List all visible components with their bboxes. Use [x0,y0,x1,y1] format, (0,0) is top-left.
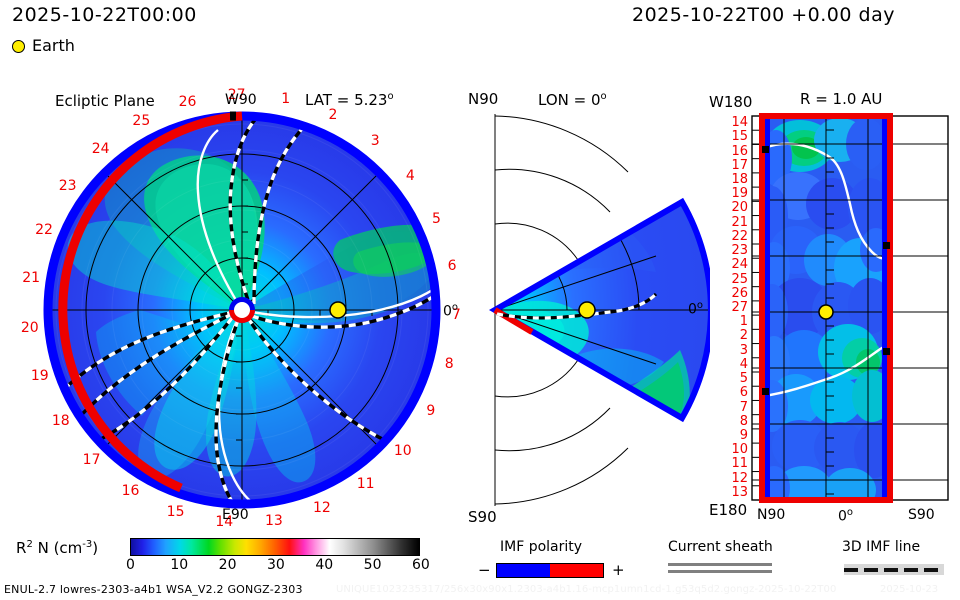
map-row-number: 15 [714,130,748,143]
meridional-plane-panel [460,100,710,520]
map-row-number: 3 [714,344,748,357]
map-row-number: 1 [714,315,748,328]
imf-positive-swatch [550,564,603,577]
map-row-number: 2 [714,329,748,342]
map-xlabel-n90: N90 [757,508,785,522]
colorbar-tick: 40 [315,558,333,572]
colorbar-tick: 50 [364,558,382,572]
map-row-number: 9 [714,429,748,442]
map-row-number: 26 [714,287,748,300]
meridional-right-sup: o [697,300,703,311]
colorbar-tick: 60 [412,558,430,572]
imf-line-dash [864,568,878,572]
imf-polarity-minus: − [478,563,491,578]
map-row-number: 22 [714,230,748,243]
imf-line-dash [884,568,898,572]
earth-marker-meridional [579,302,595,318]
map-xlabel-n90-text: N90 [757,507,785,523]
colorbar-tick: 30 [267,558,285,572]
footer-run-id: UNIQUE1023235317/256x30x90x1.2303-a4b1.1… [336,585,836,595]
map-row-number: 13 [714,486,748,499]
map-row-number: 19 [714,187,748,200]
map-row-number: 11 [714,457,748,470]
map-row-number: 7 [714,401,748,414]
current-sheath-line-1 [668,563,772,566]
map-row-number: 20 [714,201,748,214]
map-xlabel-zero-sup: o [847,507,853,518]
earth-marker-map [819,305,833,319]
imf-line-dash [904,568,918,572]
map-row-number: 24 [714,258,748,271]
imf-line-dash [924,568,938,572]
map-row-number: 12 [714,472,748,485]
map-xlabel-s90-text: S90 [908,507,935,523]
footer-generated-date: 2025-10-23 [880,585,938,595]
map-row-number: 27 [714,301,748,314]
map-row-number: 18 [714,173,748,186]
map-xlabel-zero: 0o [838,508,853,524]
map-row-number: 17 [714,159,748,172]
map-row-number: 21 [714,216,748,229]
map-1au-row-labels: 1415161718192021222324252627123456789101… [700,100,760,520]
current-sheath-line-2 [668,570,772,573]
map-row-number: 10 [714,443,748,456]
map-row-number: 8 [714,415,748,428]
header-epoch: 2025-10-22T00 +0.00 day [632,6,895,25]
imf-polarity-plus: + [612,563,625,578]
imf-line-legend-title: 3D IMF line [842,540,920,554]
current-sheath-legend-title: Current sheath [668,540,773,554]
imf-polarity-legend-title: IMF polarity [500,540,582,554]
imf-line-swatch [844,564,944,575]
current-sheath-swatch [668,563,772,576]
imf-polarity-swatch [496,563,604,578]
meridional-right-label: 0o [688,301,703,317]
map-xlabel-zero-text: 0 [838,509,847,525]
map-row-number: 14 [714,116,748,129]
map-row-number: 5 [714,372,748,385]
meridional-right-zero: 0 [688,302,697,318]
map-xlabel-s90: S90 [908,508,935,522]
colorbar-tick: 0 [126,558,135,572]
imf-line-dash [844,568,858,572]
colorbar-ticks: 0102030405060 [0,0,460,600]
colorbar-tick: 10 [170,558,188,572]
map-row-number: 25 [714,273,748,286]
imf-negative-swatch [497,564,550,577]
map-row-number: 4 [714,358,748,371]
footer-model-string: ENUL-2.7 lowres-2303-a4b1 WSA_V2.2 GONGZ… [4,584,303,595]
map-row-number: 23 [714,244,748,257]
map-row-number: 6 [714,386,748,399]
map-row-number: 16 [714,145,748,158]
colorbar-tick: 20 [219,558,237,572]
